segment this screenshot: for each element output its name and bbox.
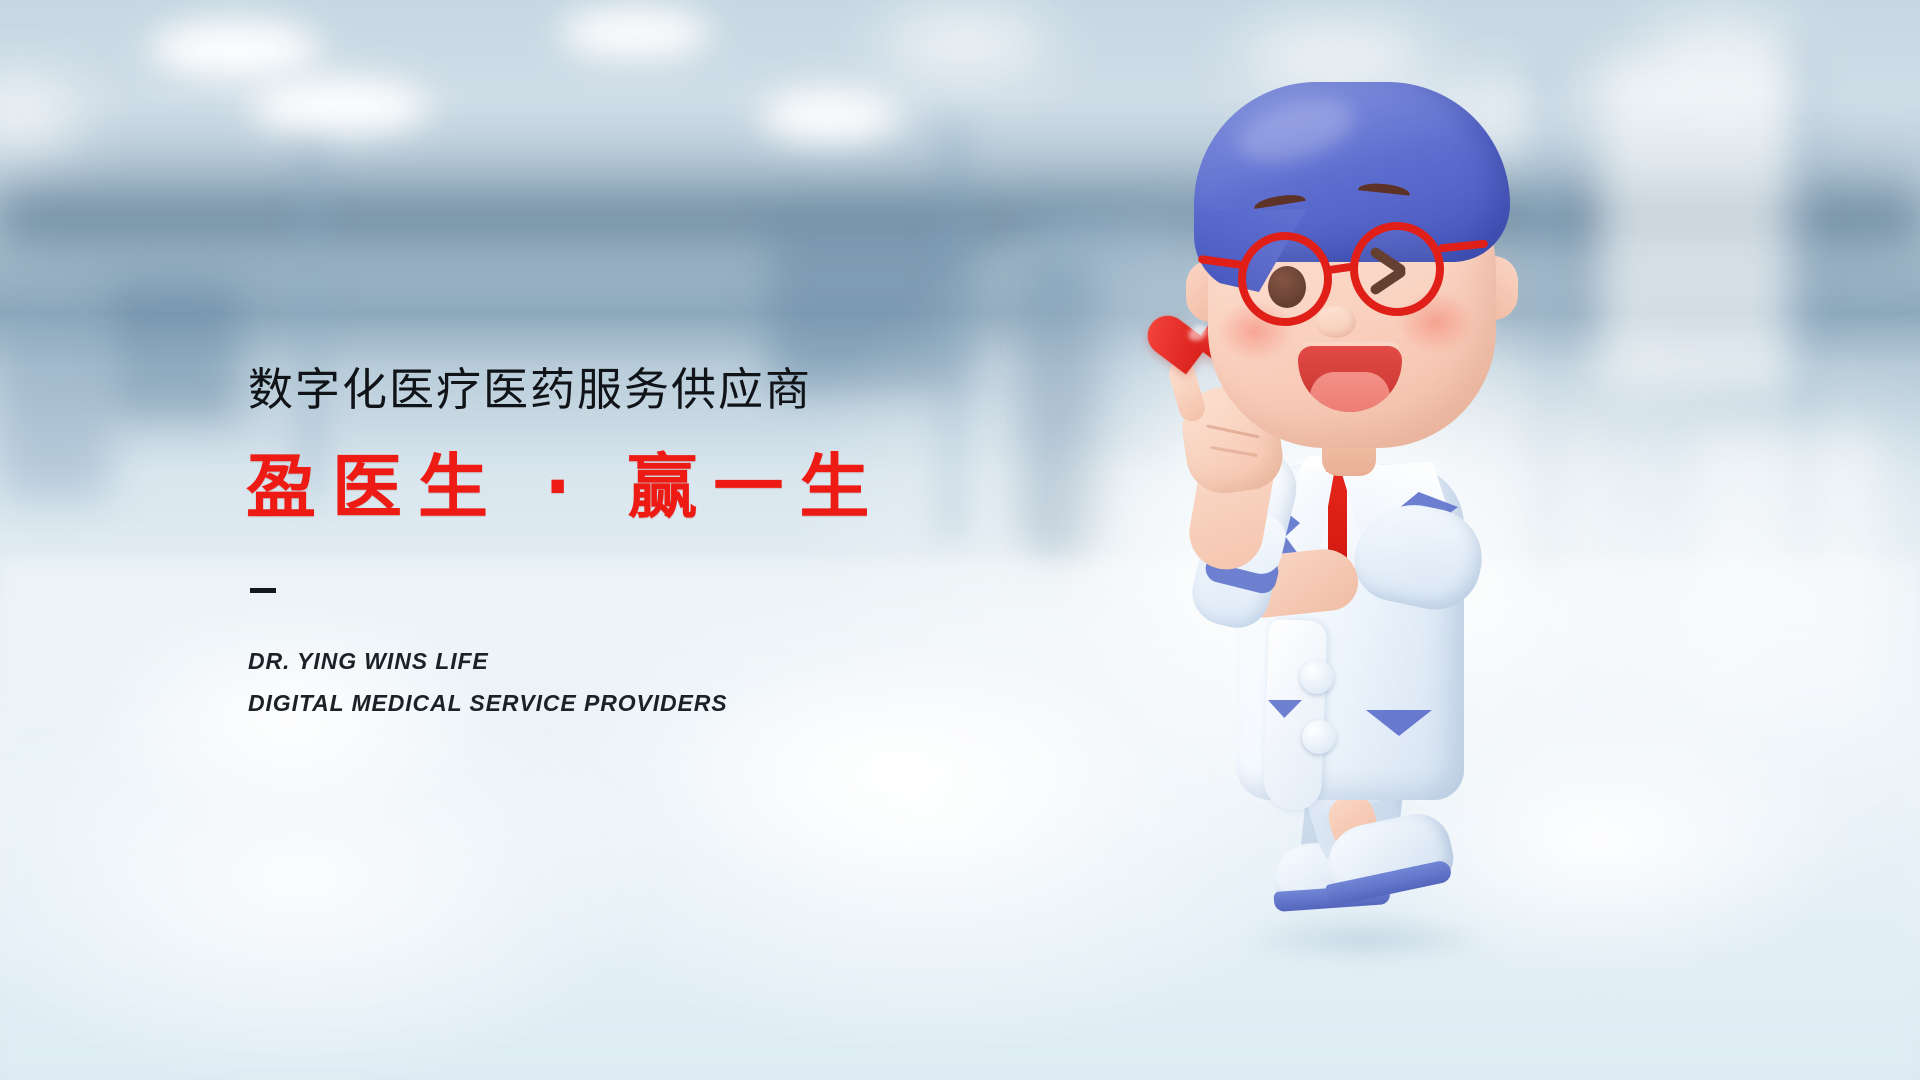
mascot-coat-button-2 xyxy=(1302,720,1336,754)
hero-subtitle-en-line1: DR. YING WINS LIFE xyxy=(248,648,489,675)
glasses-lens-left-icon xyxy=(1238,232,1332,326)
mascot-nose xyxy=(1316,306,1356,338)
hero-slogan: 盈医生 · 赢一生 xyxy=(246,452,885,522)
hero-subtitle-en-line2: DIGITAL MEDICAL SERVICE PROVIDERS xyxy=(248,690,728,717)
mascot-tongue xyxy=(1310,372,1390,412)
hero-headline-cn: 数字化医疗医药服务供应商 xyxy=(248,367,812,412)
mascot-coat-flap xyxy=(1263,619,1328,811)
hero-banner: 数字化医疗医药服务供应商 盈医生 · 赢一生 DR. YING WINS LIF… xyxy=(0,0,1920,1080)
hero-divider xyxy=(250,588,276,593)
mascot-mouth xyxy=(1298,346,1402,412)
mascot-contact-shadow xyxy=(1240,916,1490,962)
mascot-coat-button-1 xyxy=(1300,660,1334,694)
doctor-mascot-illustration xyxy=(1180,60,1620,1040)
glasses-lens-right-icon xyxy=(1350,222,1444,316)
